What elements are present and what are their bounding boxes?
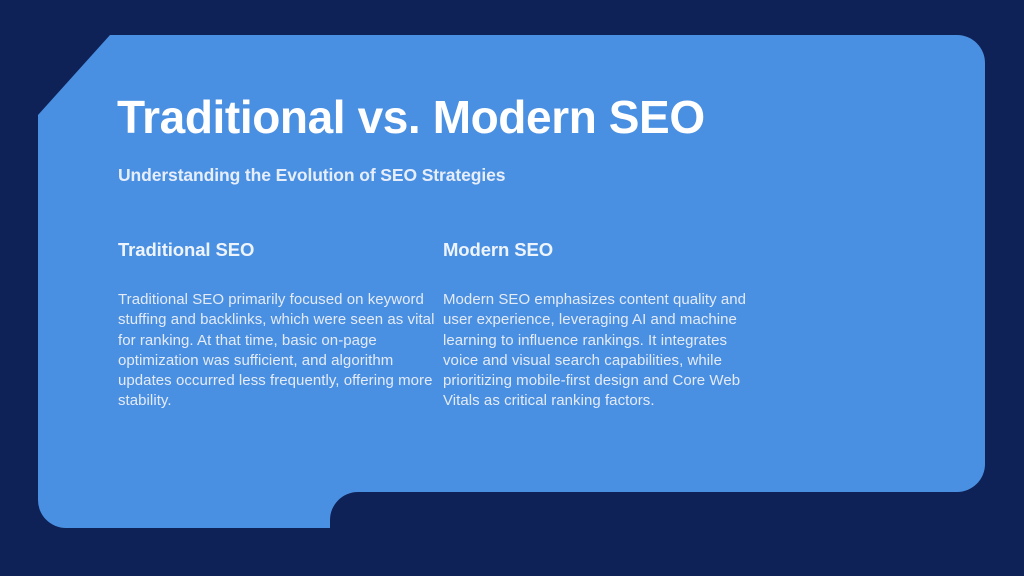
column-body-modern-seo: Modern SEO emphasizes content quality an… bbox=[443, 290, 765, 412]
content-card: Traditional vs. Modern SEO Understanding… bbox=[0, 0, 1024, 576]
slide-canvas: Traditional vs. Modern SEO Understanding… bbox=[0, 0, 1024, 576]
comparison-columns: Traditional SEO Traditional SEO primaril… bbox=[118, 238, 818, 412]
column-traditional-seo: Traditional SEO Traditional SEO primaril… bbox=[118, 238, 440, 412]
column-modern-seo: Modern SEO Modern SEO emphasizes content… bbox=[443, 238, 765, 412]
page-title: Traditional vs. Modern SEO bbox=[117, 89, 705, 145]
column-heading-traditional-seo: Traditional SEO bbox=[118, 238, 440, 262]
page-subtitle: Understanding the Evolution of SEO Strat… bbox=[118, 163, 505, 187]
column-heading-modern-seo: Modern SEO bbox=[443, 238, 765, 262]
column-body-traditional-seo: Traditional SEO primarily focused on key… bbox=[118, 290, 440, 412]
